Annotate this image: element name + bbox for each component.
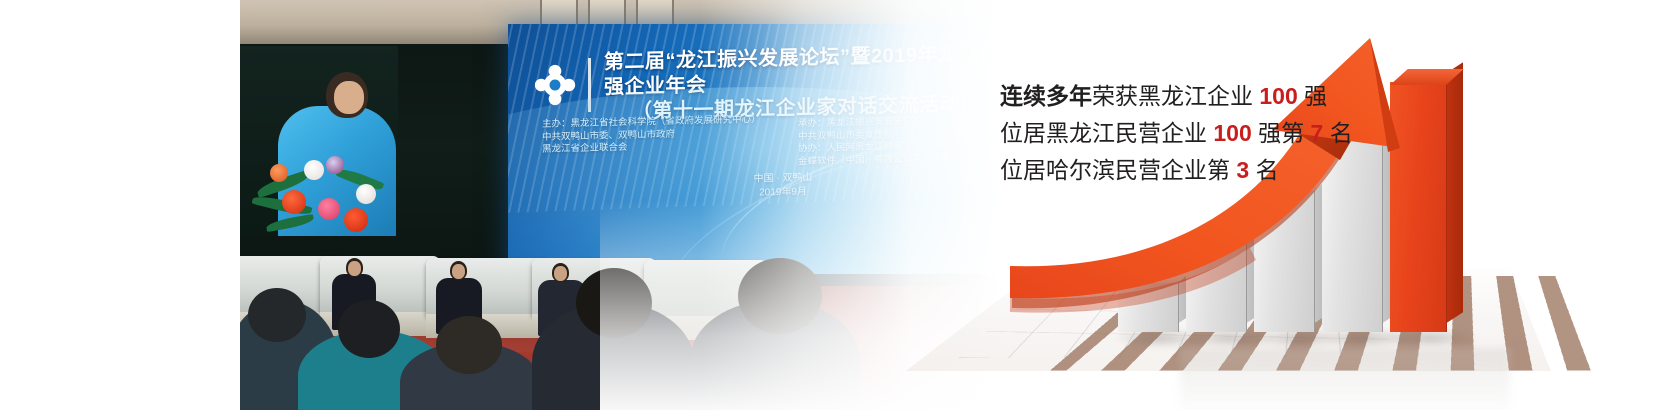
panelist-face xyxy=(452,264,465,279)
headline-line-3: 位居哈尔滨民营企业第 3 名 xyxy=(1000,152,1420,189)
headline-segment: 强第 xyxy=(1252,120,1311,146)
video-inset xyxy=(240,46,398,236)
headline-segment: 强 xyxy=(1298,83,1327,109)
headline-line-2: 位居黑龙江民营企业 100 强第 7 名 xyxy=(1000,115,1420,152)
headline-segment: 100 xyxy=(1259,83,1297,109)
headline-segment: 荣获黑龙江企业 xyxy=(1092,83,1259,109)
audience-head xyxy=(248,288,306,342)
headline-line-1: 连续多年荣获黑龙江企业 100 强 xyxy=(1000,78,1420,115)
audience-head xyxy=(436,316,502,374)
flower-logo-icon xyxy=(534,64,576,106)
headline-segment: 3 xyxy=(1236,157,1249,183)
headline-text: 连续多年荣获黑龙江企业 100 强位居黑龙江民营企业 100 强第 7 名位居哈… xyxy=(1000,78,1420,189)
promo-banner: 第二届“龙江振兴发展论坛”暨2019年龙江百强企业年会 （第十一期龙江企业家对话… xyxy=(0,0,1680,410)
panelist-face xyxy=(554,266,567,281)
conference-photo: 第二届“龙江振兴发展论坛”暨2019年龙江百强企业年会 （第十一期龙江企业家对话… xyxy=(240,0,1000,410)
speaker-face xyxy=(334,81,364,114)
panelist-face xyxy=(348,261,361,276)
headline-segment: 名 xyxy=(1249,157,1278,183)
headline-segment: 100 xyxy=(1213,120,1251,146)
headline-segment: 连续多年 xyxy=(1000,83,1092,109)
headline-segment: 名 xyxy=(1323,120,1352,146)
logo-divider xyxy=(588,58,591,112)
flower-bouquet xyxy=(252,134,394,236)
headline-segment: 位居哈尔滨民营企业第 xyxy=(1000,157,1236,183)
headline-segment: 7 xyxy=(1311,120,1324,146)
headline-segment: 位居黑龙江民营企业 xyxy=(1000,120,1213,146)
audience-head xyxy=(338,300,400,358)
